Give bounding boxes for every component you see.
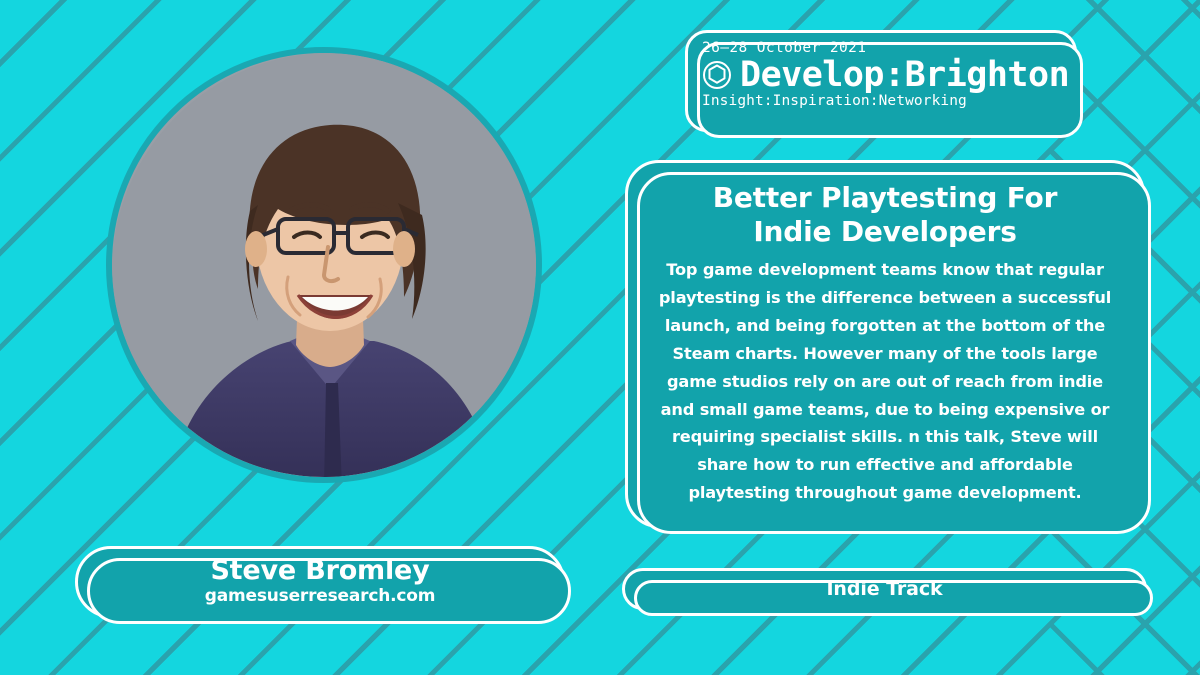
talk-card: Better Playtesting For Indie Developers … — [625, 160, 1145, 528]
logo-wordmark: Develop:Brighton — [740, 58, 1069, 93]
speaker-name: Steve Bromley — [210, 557, 429, 585]
speaker-portrait — [106, 47, 542, 483]
develop-brighton-logo-badge: 26–28 October 2021 Develop:Brighton Insi… — [685, 30, 1077, 132]
track-label: Indie Track — [826, 578, 942, 600]
talk-abstract: Top game development teams know that reg… — [658, 256, 1112, 507]
track-badge: Indie Track — [622, 568, 1147, 610]
hexagon-in-circle-icon — [702, 60, 732, 90]
talk-title: Better Playtesting For Indie Developers — [670, 181, 1100, 249]
logo-wordmark-row: Develop:Brighton — [702, 58, 1060, 93]
portrait-illustration — [112, 53, 536, 477]
logo-tagline: Insight:Inspiration:Networking — [702, 94, 1060, 110]
speaker-website: gamesuserresearch.com — [205, 586, 435, 606]
speaker-name-plate: Steve Bromley gamesuserresearch.com — [75, 546, 565, 618]
speaker-photo — [112, 53, 536, 477]
